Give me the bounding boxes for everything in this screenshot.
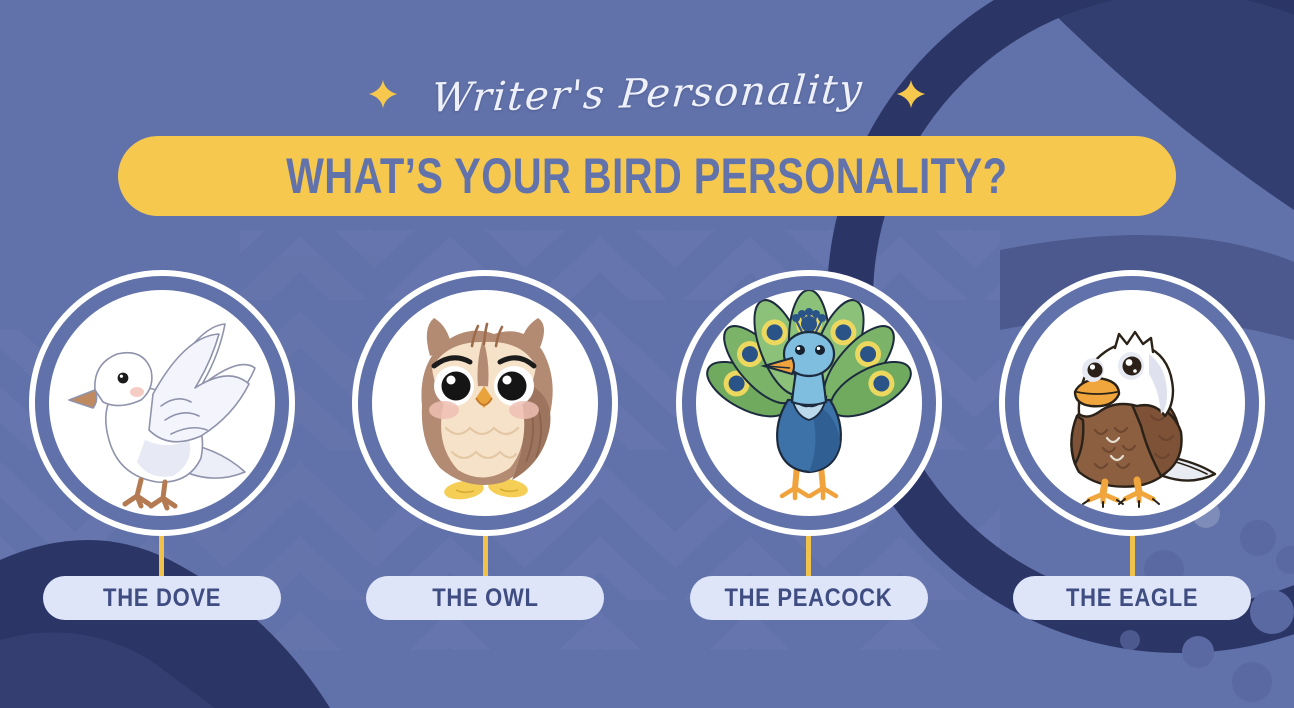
peacock-connector [806, 534, 811, 576]
owl-label-text: THE OWL [432, 584, 538, 613]
eagle-illustration [1019, 290, 1245, 516]
owl-illustration [372, 290, 598, 516]
dove-circle-frame [29, 270, 295, 536]
peacock-eye-icon [795, 345, 805, 355]
eagle-connector [1130, 534, 1135, 576]
title-banner: WHAT’S YOUR BIRD PERSONALITY? [118, 136, 1176, 216]
eagle-image-well [1019, 290, 1245, 516]
peacock-label-text: THE PEACOCK [725, 584, 893, 613]
bird-label-peacock[interactable]: THE PEACOCK [690, 576, 928, 620]
bird-card-eagle[interactable]: THE EAGLE [971, 270, 1294, 640]
dove-label-text: THE DOVE [103, 584, 221, 613]
peacock-illustration [696, 290, 922, 516]
bird-label-owl[interactable]: THE OWL [366, 576, 604, 620]
dove-connector [159, 534, 164, 576]
eyebrow-row: Writer's Personality [0, 58, 1294, 130]
eyebrow-text: Writer's Personality [429, 66, 864, 121]
dove-eye-icon [117, 373, 128, 384]
sparkle-star-icon [896, 79, 926, 109]
bird-card-peacock[interactable]: THE PEACOCK [647, 270, 971, 640]
eagle-circle-frame [999, 270, 1265, 536]
bird-card-owl[interactable]: THE OWL [324, 270, 648, 640]
page-title: WHAT’S YOUR BIRD PERSONALITY? [286, 151, 1007, 201]
peacock-image-well [696, 290, 922, 516]
dove-illustration [49, 290, 275, 516]
bird-card-dove[interactable]: THE DOVE [0, 270, 324, 640]
owl-circle-frame [352, 270, 618, 536]
dove-image-well [49, 290, 275, 516]
eagle-label-text: THE EAGLE [1066, 584, 1198, 613]
bird-card-row: THE DOVE [0, 270, 1294, 640]
bird-label-eagle[interactable]: THE EAGLE [1013, 576, 1251, 620]
bird-label-dove[interactable]: THE DOVE [43, 576, 281, 620]
peacock-circle-frame [676, 270, 942, 536]
owl-connector [483, 534, 488, 576]
sparkle-star-icon [368, 79, 398, 109]
owl-image-well [372, 290, 598, 516]
